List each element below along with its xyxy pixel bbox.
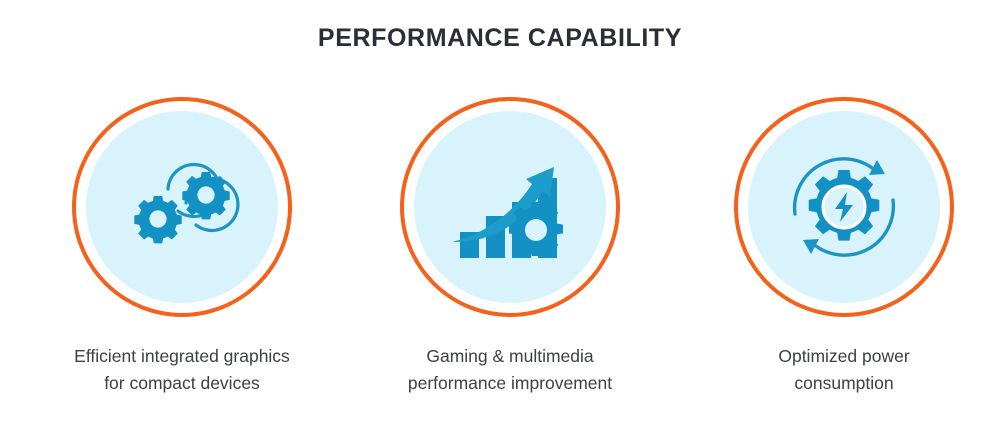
capability-caption-3: Optimized power consumption [694, 343, 994, 397]
caption-line-1: Optimized power [694, 343, 994, 370]
capability-card-power-consumption: Optimized power consumption [694, 97, 994, 397]
icon-circle-1 [72, 97, 292, 317]
growth-chart-gear-icon [448, 148, 572, 266]
caption-line-1: Gaming & multimedia [360, 343, 660, 370]
caption-line-2: performance improvement [360, 370, 660, 397]
caption-line-1: Efficient integrated graphics [32, 343, 332, 370]
capability-caption-1: Efficient integrated graphics for compac… [32, 343, 332, 397]
icon-circle-3 [734, 97, 954, 317]
capability-caption-2: Gaming & multimedia performance improvem… [360, 343, 660, 397]
caption-line-2: for compact devices [32, 370, 332, 397]
caption-line-2: consumption [694, 370, 994, 397]
power-gear-refresh-icon [785, 148, 903, 266]
capability-card-gaming-multimedia: Gaming & multimedia performance improvem… [360, 97, 660, 397]
page-title: PERFORMANCE CAPABILITY [0, 24, 1000, 53]
integrated-gears-icon [122, 151, 242, 263]
icon-circle-fill-2 [414, 111, 606, 303]
capability-card-integrated-graphics: Efficient integrated graphics for compac… [32, 97, 332, 397]
icon-circle-fill-1 [86, 111, 278, 303]
icon-circle-2 [400, 97, 620, 317]
capability-card-list: Efficient integrated graphics for compac… [0, 97, 1000, 397]
icon-circle-fill-3 [748, 111, 940, 303]
